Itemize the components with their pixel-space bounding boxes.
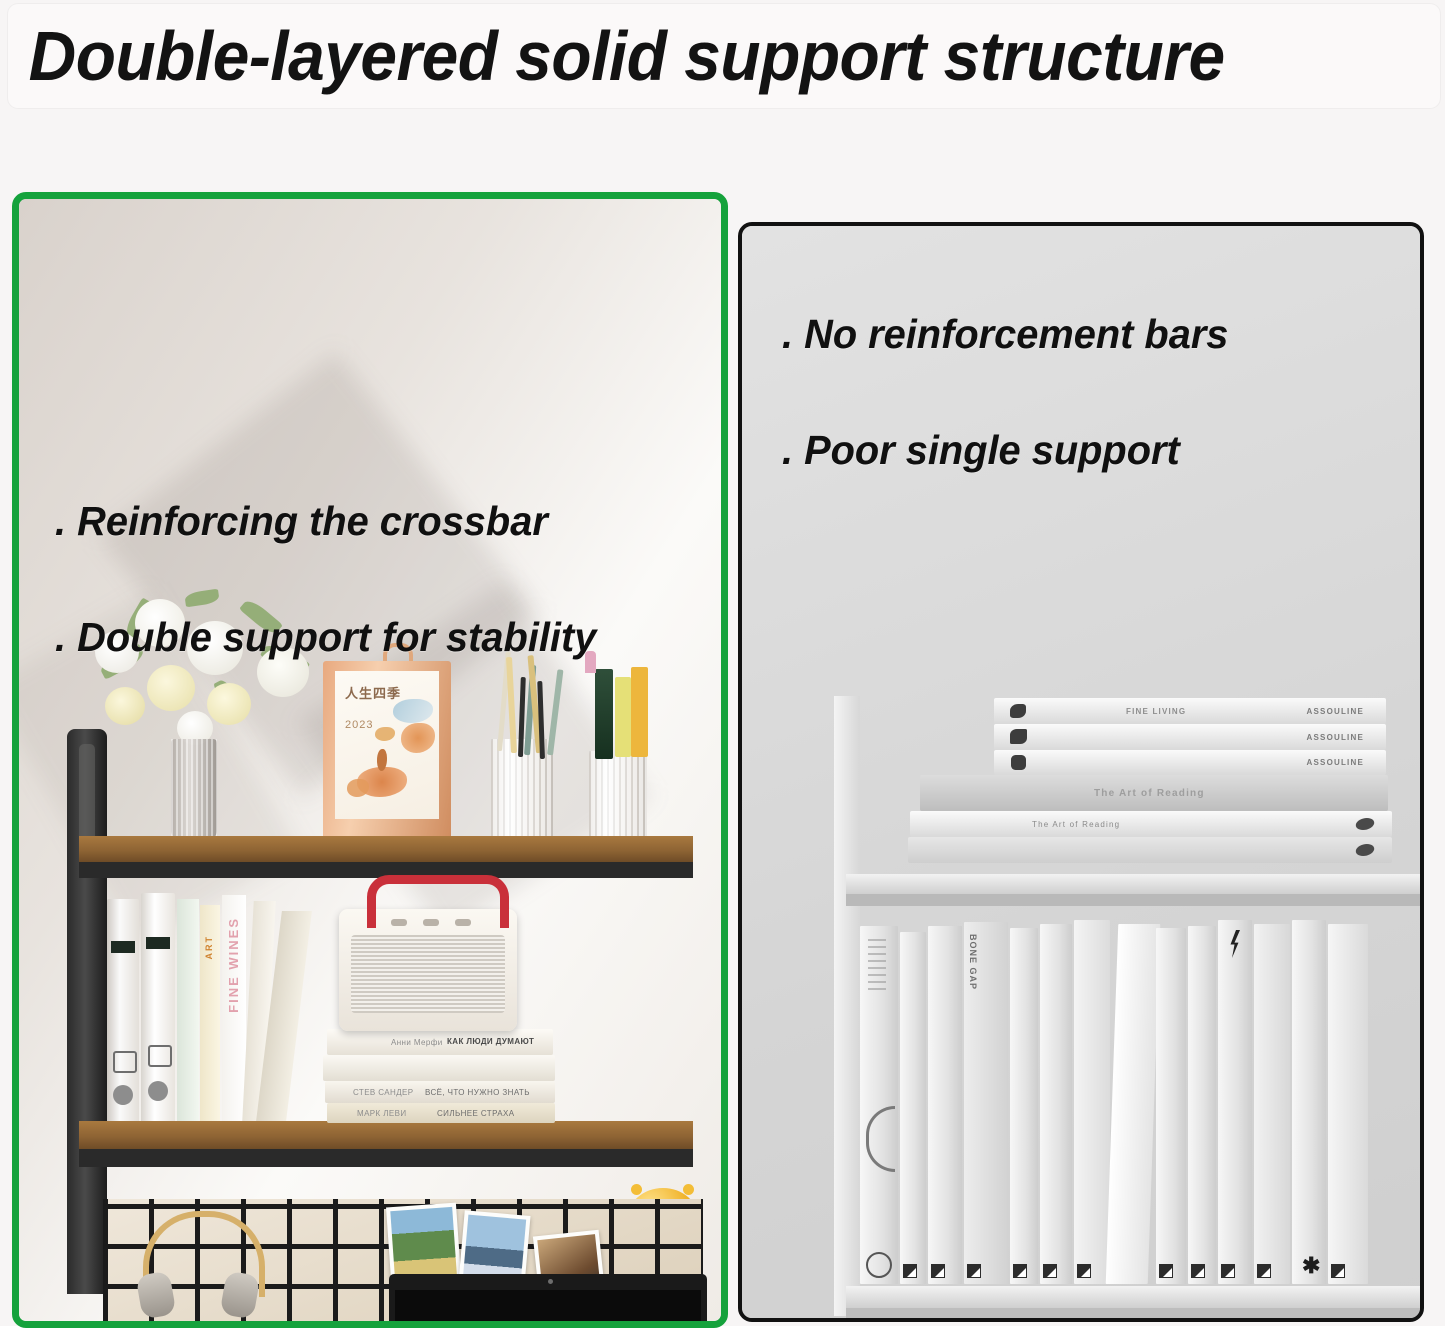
stacked-book [908, 837, 1392, 863]
book-spine-fine-wines: FINE WINES [222, 895, 246, 1121]
retro-radio [339, 909, 517, 1031]
shelf-post-inner [79, 744, 95, 849]
book-spine-label: ART [204, 935, 214, 960]
reinforced-bullet-list: . Reinforcing the crossbar . Double supp… [55, 499, 715, 659]
radio-knob [391, 919, 407, 926]
stacked-book-title: КАК ЛЮДИ ДУМАЮТ [447, 1037, 534, 1046]
book-spine [1074, 920, 1110, 1284]
book-spine-bone-gap: BONE GAP [964, 922, 1008, 1284]
lever-arch-binder [107, 899, 139, 1121]
book-spine [1254, 924, 1290, 1284]
stacked-book: The Art of Reading [920, 775, 1388, 811]
stacked-book: Анни Мерфи КАК ЛЮДИ ДУМАЮТ [327, 1029, 553, 1055]
flower-vase [171, 739, 217, 839]
panel-unreinforced-shelf: FINE LIVING ASSOULINE ASSOULINE ASSOULIN… [738, 222, 1424, 1322]
book-spine [1106, 924, 1161, 1284]
stacked-book: МАРК ЛЕВИ СИЛЬНЕЕ СТРАХА [327, 1103, 555, 1123]
headphones [143, 1211, 253, 1321]
shelf-side-panel [834, 696, 860, 1316]
radio-knob [455, 919, 471, 926]
stacked-book-author: МАРК ЛЕВИ [357, 1109, 407, 1118]
book-spine [860, 926, 898, 1284]
book-spine-art: ART [200, 905, 220, 1121]
calendar-year: 2023 [345, 719, 373, 731]
book-spine: ✱ [1292, 920, 1326, 1284]
stacked-book-title: FINE LIVING [1126, 707, 1186, 716]
stacked-book: FINE LIVING ASSOULINE [994, 698, 1386, 724]
title-banner: Double-layered solid support structure [8, 4, 1440, 108]
stacked-book: СТЕВ САНДЕР ВСЁ, ЧТО НУЖНО ЗНАТЬ [325, 1081, 555, 1103]
stacked-book-title: The Art of Reading [1032, 820, 1120, 829]
bullet-no-reinforcement-bars: . No reinforcement bars [782, 312, 1383, 356]
book-spine [900, 932, 926, 1284]
top-shelf-board [79, 836, 693, 862]
stacked-book: The Art of Reading [910, 811, 1392, 837]
middle-shelf-board [79, 1121, 693, 1149]
stacked-book-brand: ASSOULINE [1307, 733, 1364, 742]
book-spine [1040, 924, 1072, 1284]
stacked-book-title: The Art of Reading [1094, 788, 1205, 799]
radio-knob [423, 919, 439, 926]
reinforced-shelf-photo: 人生四季 2023 [19, 199, 721, 1321]
book-spine [928, 926, 962, 1284]
book-spine [177, 899, 199, 1121]
book-spine [1188, 926, 1216, 1284]
monitor-screen [395, 1290, 701, 1321]
stacked-book-brand: ASSOULINE [1307, 707, 1364, 716]
monitor [389, 1274, 707, 1321]
upper-shelf-edge [846, 894, 1420, 906]
book-spine-label: BONE GAP [968, 934, 978, 990]
middle-shelf-frame [79, 1149, 693, 1167]
book-spine [1328, 924, 1368, 1284]
stacked-book [323, 1055, 555, 1081]
comparison-infographic: Double-layered solid support structure [0, 0, 1445, 1326]
pen-holder [589, 751, 647, 839]
bullet-reinforcing-crossbar: . Reinforcing the crossbar [55, 499, 695, 543]
book-spine [1010, 928, 1038, 1284]
stacked-book: ASSOULINE [994, 724, 1386, 750]
desk-calendar: 人生四季 2023 [331, 661, 445, 839]
unreinforced-bullet-list: . No reinforcement bars . Poor single su… [782, 312, 1402, 472]
lower-shelf-board [846, 1286, 1420, 1308]
book-spine-label: FINE WINES [226, 917, 241, 1013]
stacked-book-brand: ASSOULINE [1307, 758, 1364, 767]
radio-speaker-grill [351, 935, 505, 1013]
panel-reinforced-shelf: 人生四季 2023 [12, 192, 728, 1328]
calendar-chinese-title: 人生四季 [345, 687, 401, 701]
page-title: Double-layered solid support structure [8, 20, 1225, 92]
book-spine [1156, 928, 1186, 1284]
upper-shelf-board [846, 874, 1420, 894]
stacked-book-title: ВСЁ, ЧТО НУЖНО ЗНАТЬ [425, 1088, 530, 1097]
bullet-double-support: . Double support for stability [55, 615, 695, 659]
stacked-book: ASSOULINE [994, 750, 1386, 775]
calendar-page: 人生四季 2023 [335, 671, 439, 819]
lower-shelf-edge [846, 1308, 1420, 1318]
book-spine [1218, 920, 1252, 1284]
lever-arch-binder [141, 893, 175, 1121]
bullet-poor-single-support: . Poor single support [782, 428, 1383, 472]
stacked-book-author: СТЕВ САНДЕР [353, 1088, 414, 1097]
stacked-book-author: Анни Мерфи [391, 1038, 443, 1047]
stacked-book-title: СИЛЬНЕЕ СТРАХА [437, 1109, 515, 1118]
